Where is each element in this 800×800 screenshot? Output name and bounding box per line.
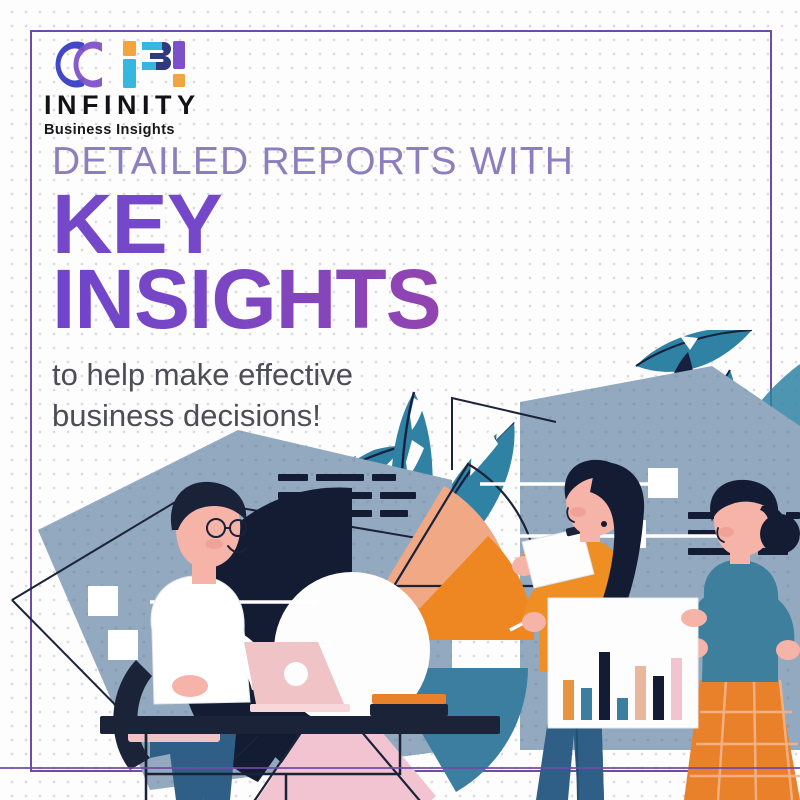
desk (100, 716, 500, 734)
infinity-bi-logo-icon (44, 36, 190, 90)
brand-logo[interactable]: INFINITY Business Insights (44, 36, 244, 132)
bar-5 (635, 666, 646, 720)
headline-line-2: INSIGHTS (52, 260, 612, 339)
poster-canvas: INFINITY Business Insights DETAILED REPO… (0, 0, 800, 800)
marker-square-1 (648, 468, 678, 498)
subtitle-line-2: business decisions! (52, 396, 612, 437)
headline-block: DETAILED REPORTS WITH KEY INSIGHTS to he… (52, 142, 612, 437)
bar-2 (581, 688, 592, 720)
bar-4 (617, 698, 628, 720)
bar-1 (563, 680, 574, 720)
subtitle-line-1: to help make effective (52, 355, 612, 396)
brand-tagline: Business Insights (44, 123, 244, 138)
bar-3 (599, 652, 610, 720)
bar-6 (653, 676, 664, 720)
marker-square-5 (108, 630, 138, 660)
lower-dot-band (0, 770, 800, 800)
bar-7 (671, 658, 682, 720)
marker-square-4 (88, 586, 118, 616)
book-stack (372, 694, 446, 704)
poster-bar-chart (548, 598, 707, 728)
brand-name: INFINITY (44, 92, 244, 119)
